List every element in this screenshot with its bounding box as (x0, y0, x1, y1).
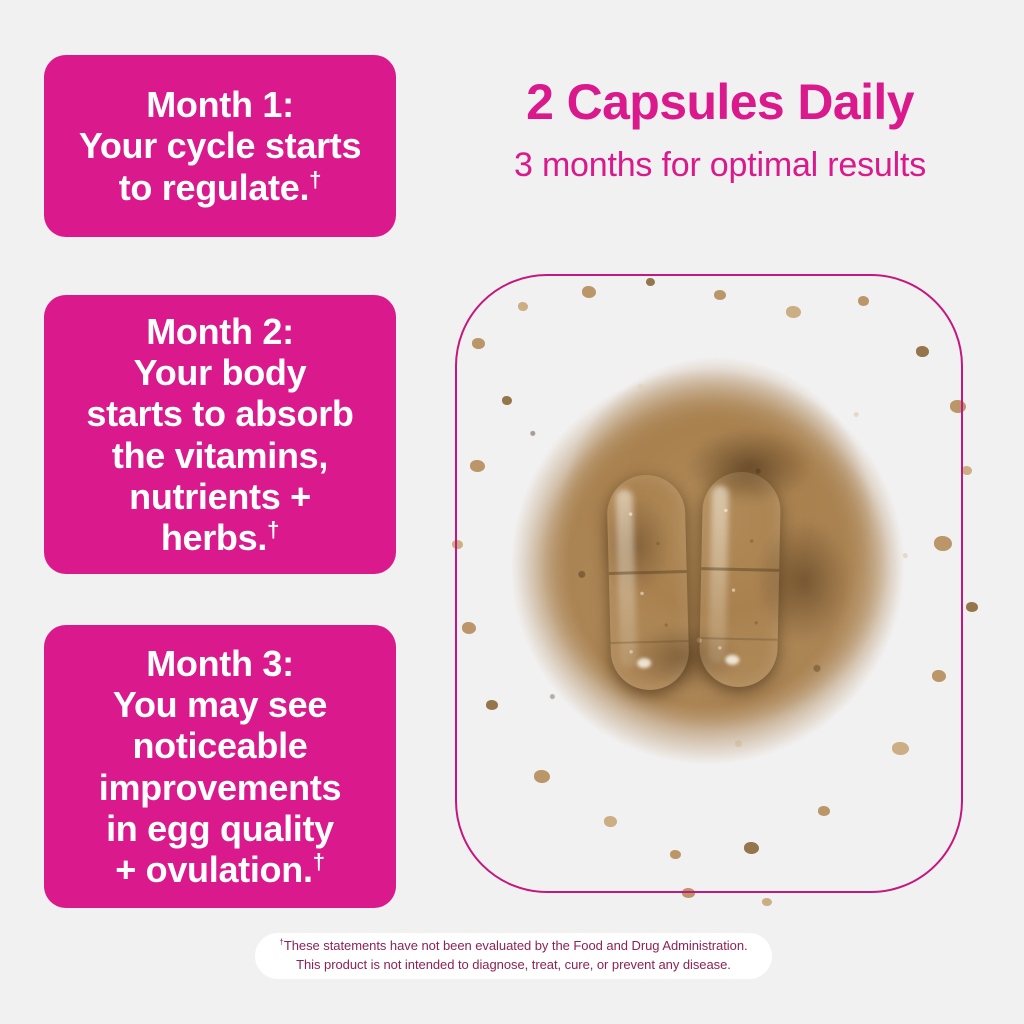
benefit-card-month-3: Month 3:You may seenoticeableimprovement… (44, 625, 396, 908)
powder-crumb (966, 602, 978, 612)
powder-crumb (762, 898, 772, 906)
benefit-card-month-1: Month 1:Your cycle startsto regulate.† (44, 55, 396, 237)
disclaimer-banner: †These statements have not been evaluate… (255, 933, 772, 979)
powder-crumb (670, 850, 681, 859)
powder-crumb (534, 770, 550, 783)
powder-crumb (916, 346, 929, 357)
benefit-card-month-2-text: Month 2:Your bodystarts to absorbthe vit… (86, 311, 353, 557)
product-photo-area (414, 250, 1010, 918)
powder-crumb (932, 670, 946, 682)
benefit-card-month-3-text: Month 3:You may seenoticeableimprovement… (99, 643, 341, 889)
powder-crumb (582, 286, 596, 298)
powder-crumb (486, 700, 498, 710)
powder-crumb (518, 302, 528, 311)
powder-crumb (950, 400, 966, 413)
marketing-graphic: Month 1:Your cycle startsto regulate.† M… (0, 0, 1024, 1024)
powder-crumb (934, 536, 952, 551)
powder-crumb (682, 888, 695, 898)
disclaimer-text: †These statements have not been evaluate… (279, 937, 747, 975)
powder-crumb (714, 290, 726, 300)
benefit-card-month-1-text: Month 1:Your cycle startsto regulate.† (79, 84, 361, 207)
powder-crumb (962, 466, 972, 475)
powder-crumb (786, 306, 801, 318)
powder-crumb (472, 338, 485, 349)
powder-crumb (502, 396, 512, 405)
page-subtitle: 3 months for optimal results (424, 147, 1016, 184)
page-title: 2 Capsules Daily (424, 76, 1016, 129)
powder-crumb (892, 742, 909, 755)
powder-crumb (744, 842, 759, 854)
powder-crumb (858, 296, 869, 306)
capsule-powder-photo (414, 250, 1010, 918)
powder-crumb (818, 806, 830, 816)
powder-crumb (604, 816, 617, 827)
powder-crumb (452, 540, 463, 549)
capsule-left (606, 474, 690, 691)
capsule-right (699, 471, 781, 688)
benefit-card-month-2: Month 2:Your bodystarts to absorbthe vit… (44, 295, 396, 574)
powder-crumb (646, 278, 655, 286)
powder-crumb (462, 622, 476, 634)
capsule-highlight (725, 655, 739, 665)
headline-block: 2 Capsules Daily 3 months for optimal re… (424, 76, 1016, 184)
powder-crumb (470, 460, 485, 472)
